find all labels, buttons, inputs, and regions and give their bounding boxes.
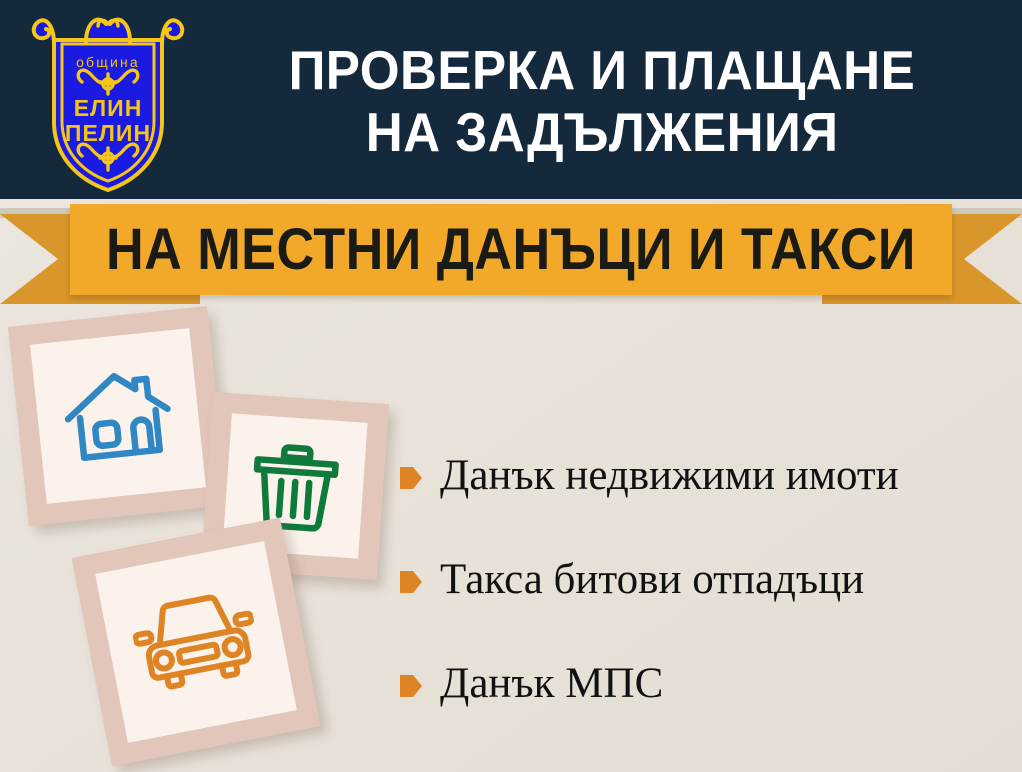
page-title: ПРОВЕРКА И ПЛАЩАНЕ НА ЗАДЪЛЖЕНИЯ bbox=[196, 16, 1008, 186]
list-item[interactable]: Данък МПС bbox=[400, 632, 1010, 736]
tax-type-list: Данък недвижими имоти Такса битови отпад… bbox=[400, 424, 1010, 736]
arrow-bullet-icon bbox=[400, 569, 422, 595]
ribbon-label: НА МЕСТНИ ДАНЪЦИ И ТАКСИ bbox=[106, 220, 916, 280]
ribbon-band: НА МЕСТНИ ДАНЪЦИ И ТАКСИ bbox=[70, 204, 952, 295]
stamp-face bbox=[30, 328, 206, 504]
crest-label-top: община bbox=[76, 54, 140, 70]
house-icon bbox=[57, 362, 178, 469]
crest-label-line1: ЕЛИН bbox=[74, 95, 143, 121]
title-line-1: ПРОВЕРКА И ПЛАЩАНЕ bbox=[289, 39, 916, 101]
arrow-bullet-icon bbox=[400, 673, 422, 699]
crest-label-line2: ПЕЛИН bbox=[65, 120, 151, 146]
title-line-2: НА ЗАДЪЛЖЕНИЯ bbox=[366, 101, 839, 163]
stamp-card-vehicle bbox=[72, 518, 321, 767]
list-item-label: Такса битови отпадъци bbox=[440, 555, 864, 605]
list-item-label: Данък недвижими имоти bbox=[440, 451, 899, 501]
coat-of-arms: община ЕЛИН ПЕЛИН bbox=[24, 4, 192, 196]
poster-canvas: община ЕЛИН ПЕЛИН ПРОВЕРКА И ПЛ bbox=[0, 0, 1022, 772]
list-item[interactable]: Такса битови отпадъци bbox=[400, 528, 1010, 632]
list-item[interactable]: Данък недвижими имоти bbox=[400, 424, 1010, 528]
stamp-card-real-estate bbox=[8, 306, 228, 526]
subtitle-ribbon: НА МЕСТНИ ДАНЪЦИ И ТАКСИ bbox=[0, 198, 1022, 306]
arrow-bullet-icon bbox=[400, 465, 422, 491]
list-item-label: Данък МПС bbox=[440, 659, 663, 709]
stamp-face bbox=[95, 541, 297, 743]
header-bar: община ЕЛИН ПЕЛИН ПРОВЕРКА И ПЛ bbox=[0, 0, 1022, 199]
car-icon bbox=[127, 583, 265, 701]
